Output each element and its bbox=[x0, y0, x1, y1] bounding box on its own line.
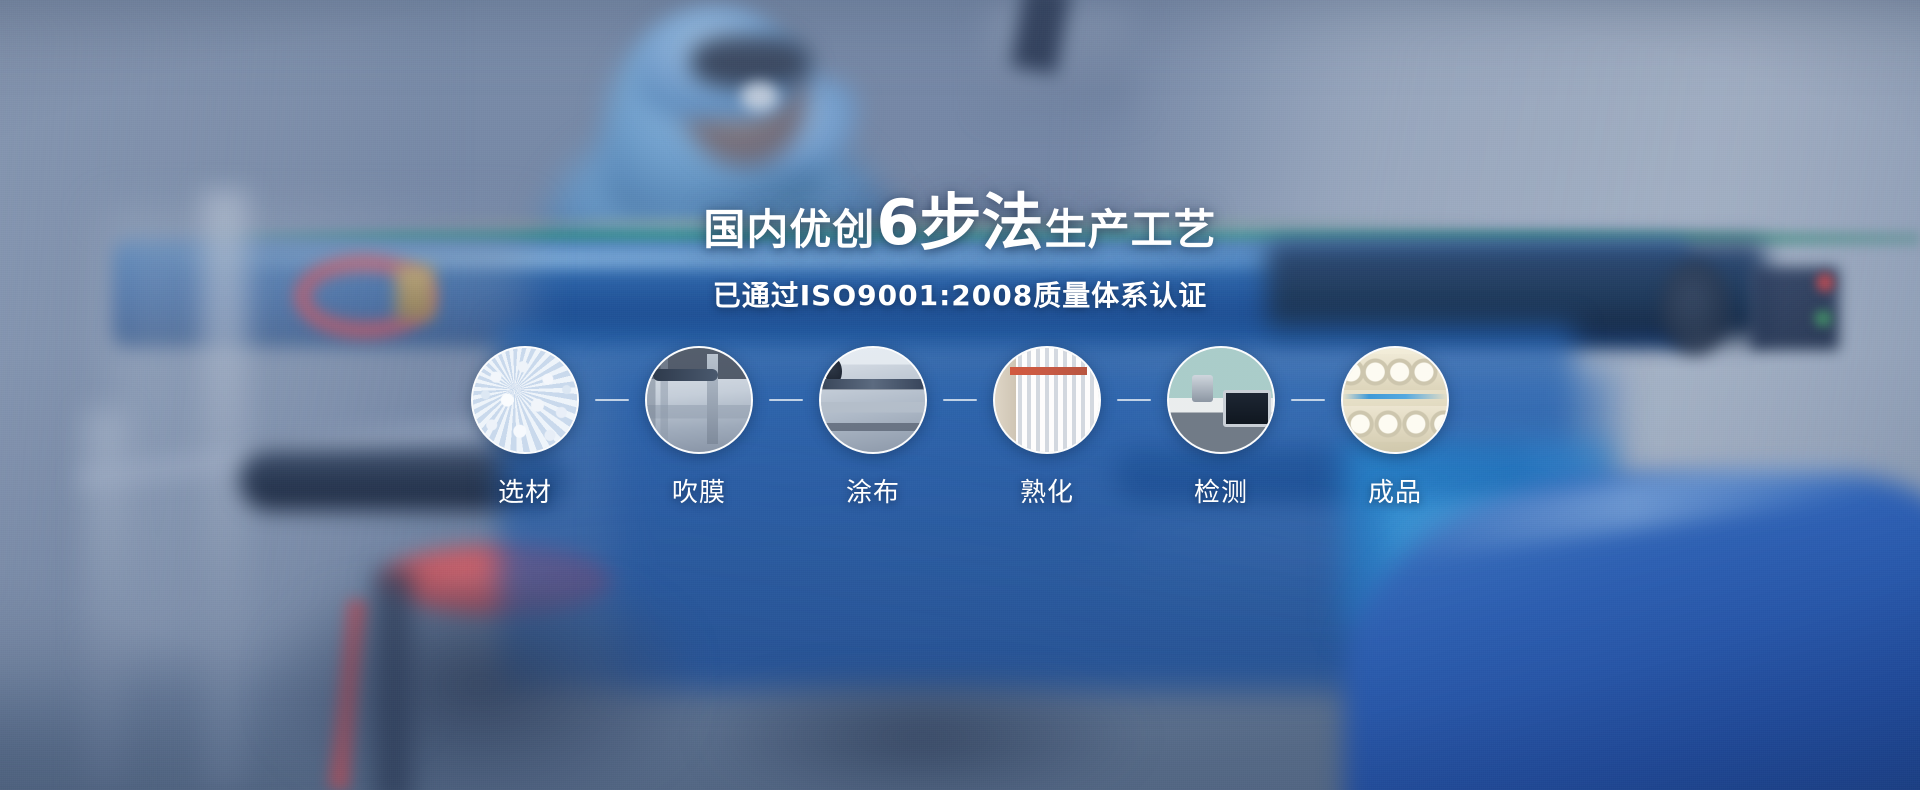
film-blowing-machine-icon bbox=[647, 348, 751, 452]
curing-room-icon bbox=[995, 348, 1099, 452]
step-thumbnail-coating[interactable] bbox=[819, 346, 927, 454]
step-thumbnail-selection[interactable] bbox=[471, 346, 579, 454]
step-connector-5 bbox=[1290, 346, 1326, 454]
process-step-1[interactable]: 选材 bbox=[456, 346, 594, 509]
process-step-2[interactable]: 吹膜 bbox=[630, 346, 768, 509]
finished-film-rolls-icon bbox=[1343, 348, 1447, 452]
step-connector-3 bbox=[942, 346, 978, 454]
step-label-4: 熟化 bbox=[1020, 472, 1074, 509]
process-step-4[interactable]: 熟化 bbox=[978, 346, 1116, 509]
step-thumbnail-blowing[interactable] bbox=[645, 346, 753, 454]
headline-prefix: 国内优创 bbox=[703, 209, 875, 251]
process-step-5[interactable]: 检测 bbox=[1152, 346, 1290, 509]
step-label-6: 成品 bbox=[1368, 472, 1422, 509]
headline-suffix: 生产工艺 bbox=[1045, 209, 1217, 251]
step-connector-2 bbox=[768, 346, 804, 454]
process-step-3[interactable]: 涂布 bbox=[804, 346, 942, 509]
headline-emphasis: 6步法 bbox=[876, 192, 1043, 254]
resin-pellets-icon bbox=[473, 348, 577, 452]
step-label-3: 涂布 bbox=[846, 472, 900, 509]
step-thumbnail-curing[interactable] bbox=[993, 346, 1101, 454]
step-label-5: 检测 bbox=[1194, 472, 1248, 509]
step-thumbnail-testing[interactable] bbox=[1167, 346, 1275, 454]
step-connector-4 bbox=[1116, 346, 1152, 454]
banner-subline: 已通过ISO9001:2008质量体系认证 bbox=[713, 274, 1207, 314]
coating-machine-icon bbox=[821, 348, 925, 452]
step-connector-1 bbox=[594, 346, 630, 454]
process-step-6[interactable]: 成品 bbox=[1326, 346, 1464, 509]
process-steps: 选材 吹膜 涂布 熟化 bbox=[456, 346, 1464, 509]
step-label-2: 吹膜 bbox=[672, 472, 726, 509]
process-banner: 国内优创 6步法 生产工艺 已通过ISO9001:2008质量体系认证 选材 吹… bbox=[0, 0, 1920, 790]
banner-content: 国内优创 6步法 生产工艺 已通过ISO9001:2008质量体系认证 选材 吹… bbox=[0, 0, 1920, 790]
testing-lab-icon bbox=[1169, 348, 1273, 452]
step-thumbnail-finished[interactable] bbox=[1341, 346, 1449, 454]
banner-headline: 国内优创 6步法 生产工艺 bbox=[703, 192, 1216, 254]
roll-blue-stripe bbox=[1343, 394, 1447, 399]
step-label-1: 选材 bbox=[498, 472, 552, 509]
